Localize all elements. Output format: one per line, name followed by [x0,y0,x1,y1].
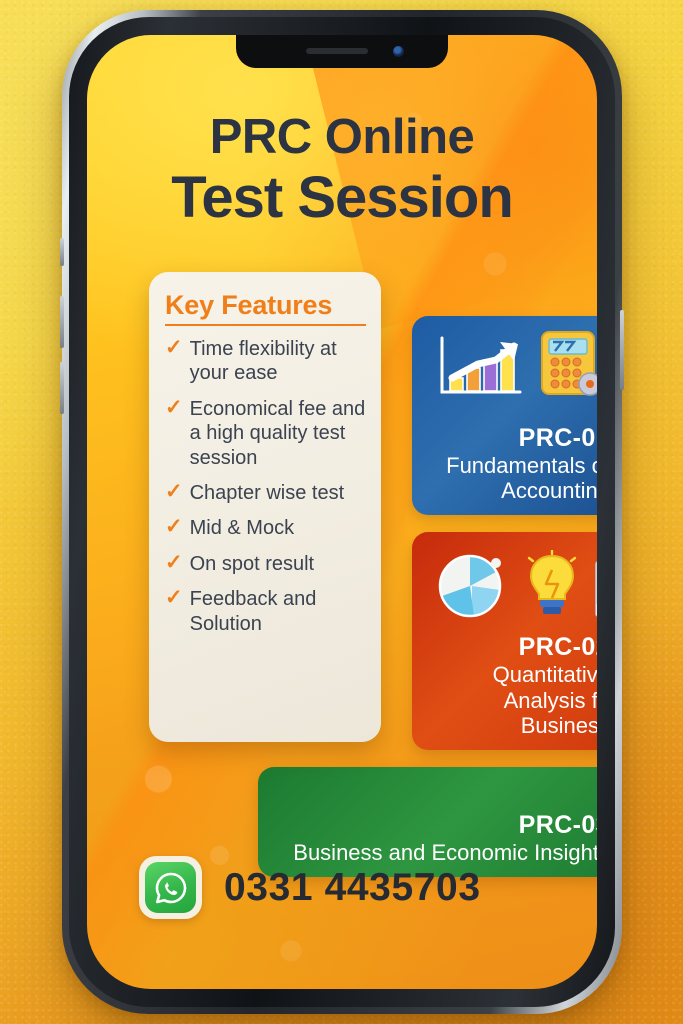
list-item: ✓ Economical fee and a high quality test… [165,397,368,470]
mute-switch[interactable] [60,238,64,266]
check-icon: ✓ [165,481,183,505]
list-item: ✓ On spot result [165,552,368,576]
check-icon: ✓ [165,337,183,386]
bar-chart-growth-icon [434,334,526,400]
speaker-grille-icon [306,48,368,54]
check-icon: ✓ [165,587,183,636]
pie-chart-icon [434,550,512,620]
course-desc-prc-01: Fundamentals of Accounting [412,453,597,504]
check-icon: ✓ [165,397,183,470]
calculator-icon [540,330,597,400]
course-text-prc-02: PRC-02 Quantitative Analysis fo Business [412,633,597,739]
volume-up-button[interactable] [60,296,64,348]
list-item: ✓ Chapter wise test [165,481,368,505]
course-code-prc-01: PRC-01 [412,424,597,453]
course-icons-prc-02 [434,546,597,620]
course-card-prc-02[interactable]: PRC-02 Quantitative Analysis fo Business [412,532,597,750]
phone-screen: PRC Online Test Session [87,35,597,989]
list-item-label: Time flexibility at your ease [190,337,368,386]
list-item-label: Economical fee and a high quality test s… [190,397,368,470]
contact-phone-number[interactable]: 0331 4435703 [224,866,481,910]
whatsapp-icon-frame[interactable] [139,856,202,919]
list-item: ✓ Feedback and Solution [165,587,368,636]
list-item: ✓ Mid & Mock [165,516,368,540]
front-camera-icon [393,46,404,57]
headline-line-2: Test Session [87,167,597,230]
course-desc-prc-02: Quantitative Analysis fo Business [412,662,597,739]
phone-device-frame: PRC Online Test Session [62,10,622,1014]
power-button[interactable] [620,310,624,390]
course-card-prc-01[interactable]: PRC-01 Fundamentals of Accounting [412,316,597,515]
documents-icon [592,546,597,620]
key-features-card: Key Features ✓ Time flexibility at your … [149,272,381,742]
device-notch [236,35,448,68]
whatsapp-glyph-icon [153,870,189,906]
check-icon: ✓ [165,516,183,540]
list-item: ✓ Time flexibility at your ease [165,337,368,386]
course-text-prc-01: PRC-01 Fundamentals of Accounting [412,424,597,504]
check-icon: ✓ [165,552,183,576]
course-code-prc-03: PRC-03 [293,811,597,840]
course-code-prc-02: PRC-02 [412,633,597,662]
headline-line-1: PRC Online [87,113,597,163]
list-item-label: Feedback and Solution [190,587,368,636]
contact-row[interactable]: 0331 4435703 [139,856,481,919]
list-item-label: On spot result [190,552,315,576]
whatsapp-icon[interactable] [145,862,196,913]
poster-content: PRC Online Test Session [87,35,597,989]
course-icons-prc-01 [434,330,597,400]
list-item-label: Mid & Mock [190,516,294,540]
key-features-list: ✓ Time flexibility at your ease ✓ Econom… [165,337,368,636]
page-title: PRC Online Test Session [87,113,597,230]
phone-bezel: PRC Online Test Session [69,17,615,1007]
volume-down-button[interactable] [60,362,64,414]
lightbulb-icon [526,550,578,620]
list-item-label: Chapter wise test [190,481,345,505]
key-features-underline [165,324,366,326]
key-features-title: Key Features [165,290,368,321]
